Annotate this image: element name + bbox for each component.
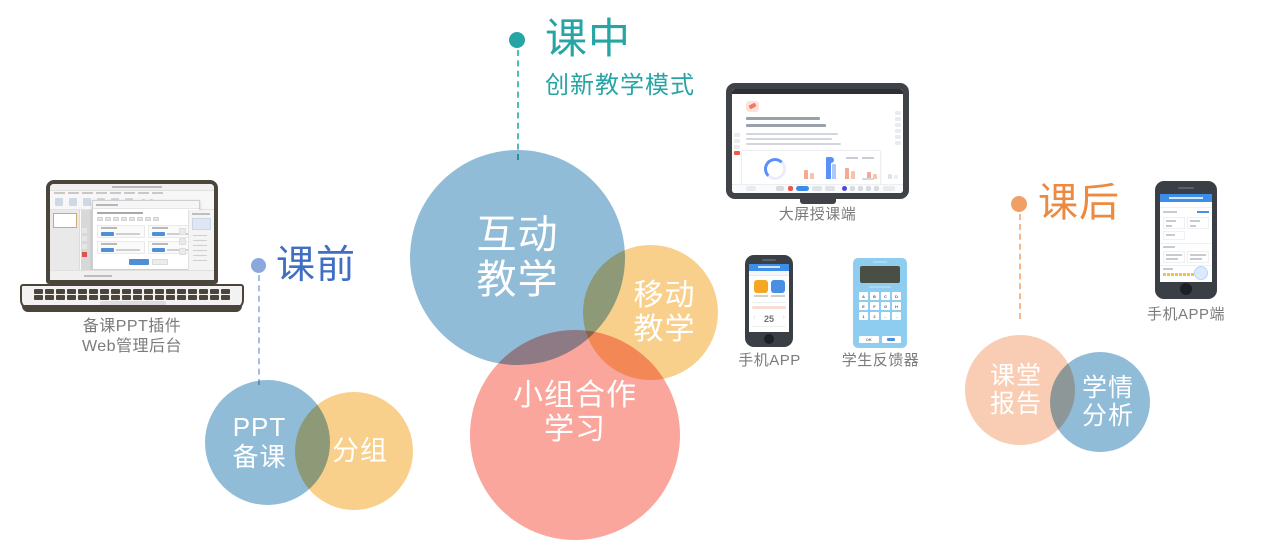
circle-grouping[interactable]: 分组 [295, 392, 413, 510]
clicker-ok-button[interactable]: OK [859, 336, 879, 343]
dashed-connector-after [1019, 214, 1021, 319]
interactive-flat-panel-icon [726, 83, 909, 199]
app-detail-card[interactable] [1163, 251, 1185, 263]
laptop-icon [20, 180, 244, 313]
app-tag [752, 306, 786, 309]
app-navbar [1160, 202, 1212, 208]
dialog-secondary-button[interactable] [152, 259, 168, 265]
dialog-item-card[interactable] [97, 241, 145, 254]
clicker-brand-label [869, 286, 891, 288]
app-stat-card[interactable] [1187, 217, 1209, 229]
display-headline-line2 [746, 124, 826, 127]
app-header [1160, 194, 1212, 202]
display-screen-ui [732, 89, 903, 193]
app-counter: 25 [764, 314, 774, 324]
circle-label-ppt-prep: PPT 备课 [232, 413, 286, 471]
app-detail-card[interactable] [1187, 251, 1209, 263]
phase-title-after: 课后 [1038, 183, 1120, 223]
ppt-thumbnail-pane [50, 210, 80, 270]
ppt-left-toolbar [82, 228, 87, 257]
phone-home-button[interactable] [1180, 283, 1192, 295]
student-clicker-icon: A B C D E F G H 1 2 ← → OK [853, 258, 907, 348]
dialog-item-card[interactable] [97, 225, 145, 238]
phone-speaker [762, 259, 776, 261]
venn-after: 课堂 报告 学情 分析 [960, 330, 1200, 475]
display-bezel [726, 83, 909, 199]
caption-phone-client: 手机APP端 [1125, 306, 1247, 325]
ppt-title-text [112, 186, 162, 188]
caption-phone-app: 手机APP [722, 352, 817, 371]
clicker-keypad[interactable]: A B C D E F G H 1 2 ← → [859, 292, 901, 320]
app-stat-card[interactable] [1163, 217, 1185, 229]
clicker-key[interactable]: G [881, 302, 890, 310]
circle-label-interactive-teaching: 互动 教学 [477, 213, 559, 303]
dashed-connector-during [517, 50, 519, 160]
display-stand [800, 199, 836, 204]
app-score-badge [1194, 266, 1208, 280]
marker-dot-before [251, 258, 266, 273]
phase-subtitle-during: 创新教学模式 [545, 74, 695, 98]
phone-speaker [1178, 187, 1194, 189]
circle-label-grouping: 分组 [332, 436, 388, 466]
dialog-primary-button[interactable] [129, 259, 149, 265]
circle-label-learning-analysis: 学情 分析 [1082, 374, 1134, 430]
circle-label-group-collaboration: 小组合作 学习 [513, 379, 637, 446]
clicker-key[interactable]: A [859, 292, 868, 300]
smartphone-icon [1155, 181, 1217, 299]
dialog-toolbar [97, 217, 159, 221]
display-chart-card [741, 150, 881, 186]
clicker-ir-window [873, 261, 887, 263]
clicker-key[interactable]: 1 [859, 312, 868, 320]
phone-screen: 25 ‹ › [749, 264, 789, 332]
laptop-lid [46, 180, 218, 284]
clicker-key[interactable]: F [870, 302, 879, 310]
circle-label-mobile-teaching: 移动 教学 [634, 279, 696, 346]
diagram-stage: 课前 PPT 备课 分组 [0, 0, 1269, 555]
venn-during: 互动 教学 移动 教学 小组合作 学习 [405, 145, 725, 485]
app-tile-orange[interactable] [754, 280, 768, 293]
caption-clicker: 学生反馈器 [828, 352, 933, 371]
marker-dot-during [509, 32, 525, 48]
display-topbar [732, 89, 903, 94]
clicker-key[interactable]: 2 [870, 312, 879, 320]
phone-screen [1160, 194, 1212, 282]
laptop-screen-ui [50, 184, 214, 280]
chart-donut [764, 158, 786, 180]
display-badge-icon [746, 101, 759, 112]
display-toolbar [732, 184, 903, 193]
chart-legend [846, 157, 874, 159]
clicker-key[interactable]: E [859, 302, 868, 310]
ppt-side-icons [179, 228, 186, 255]
smartphone-icon: 25 ‹ › [745, 255, 793, 347]
laptop-foot [22, 305, 242, 312]
clicker-key[interactable]: H [892, 302, 901, 310]
ppt-slide-thumbnail[interactable] [53, 213, 77, 228]
clicker-power-button[interactable] [882, 336, 902, 343]
ppt-right-pane [188, 210, 214, 270]
phase-title-before: 课前 [276, 246, 356, 285]
clicker-key-right[interactable]: → [892, 312, 901, 320]
venn-before: PPT 备课 分组 [200, 375, 430, 515]
clicker-key[interactable]: D [892, 292, 901, 300]
caption-big-display: 大屏授课端 [726, 206, 909, 225]
app-rating-stars [1163, 273, 1194, 276]
app-subheader [749, 271, 789, 276]
app-header [749, 264, 789, 271]
app-stat-card[interactable] [1163, 231, 1185, 240]
display-right-rail [895, 111, 901, 145]
marker-dot-after [1011, 196, 1027, 212]
display-left-rail [734, 133, 740, 155]
circle-learning-analysis[interactable]: 学情 分析 [1050, 352, 1150, 452]
dialog-titlebar [93, 201, 199, 209]
circle-group-collaboration[interactable]: 小组合作 学习 [470, 330, 680, 540]
ppt-statusbar [50, 270, 214, 280]
ppt-titlebar [50, 184, 214, 191]
app-tile-blue[interactable] [771, 280, 785, 293]
clicker-key[interactable]: B [870, 292, 879, 300]
clicker-key-left[interactable]: ← [881, 312, 890, 320]
chevron-right-icon[interactable]: › [783, 314, 785, 321]
phase-title-during: 课中 [545, 18, 631, 60]
chevron-left-icon[interactable]: ‹ [753, 314, 755, 321]
dashed-connector-before [258, 275, 260, 385]
phone-home-button[interactable] [764, 334, 774, 344]
ppt-ribbon-tabs [54, 192, 163, 194]
clicker-key[interactable]: C [881, 292, 890, 300]
clicker-bottom-keys[interactable]: OK [859, 336, 901, 343]
clicker-lcd-screen [860, 266, 900, 283]
caption-laptop: 备课PPT插件 Web管理后台 [22, 317, 242, 357]
circle-label-class-report: 课堂 报告 [990, 362, 1042, 418]
display-headline-line1 [746, 117, 820, 120]
